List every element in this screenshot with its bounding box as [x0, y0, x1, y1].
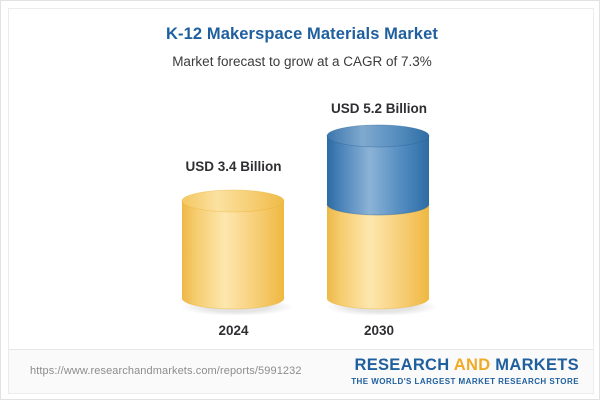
cylinder-2030[interactable] — [320, 122, 438, 315]
footer-bar: https://www.researchandmarkets.com/repor… — [9, 349, 594, 393]
plot-area: USD 3.4 Billion — [9, 9, 594, 349]
logo-tagline: THE WORLD'S LARGEST MARKET RESEARCH STOR… — [351, 376, 579, 387]
research-and-markets-logo[interactable]: RESEARCH AND MARKETS THE WORLD'S LARGEST… — [351, 356, 579, 387]
bar-group-2024: USD 3.4 Billion — [175, 9, 292, 349]
bar-group-2030: USD 5.2 Billion — [320, 9, 438, 349]
report-url[interactable]: https://www.researchandmarkets.com/repor… — [30, 365, 302, 377]
chart-infographic: K-12 Makerspace Materials Market Market … — [0, 0, 600, 400]
logo-word-markets: MARKETS — [490, 356, 579, 374]
logo-word-and: AND — [454, 356, 491, 374]
category-label-2030: 2030 — [320, 323, 438, 338]
logo-wordmark: RESEARCH AND MARKETS — [351, 356, 579, 375]
cylinder-2024[interactable] — [175, 187, 292, 315]
cylinder-2024-svg — [175, 187, 292, 315]
cylinder-2030-svg — [320, 122, 438, 315]
logo-word-research: RESEARCH — [354, 356, 453, 374]
value-label-2030: USD 5.2 Billion — [320, 101, 438, 116]
category-label-2024: 2024 — [175, 323, 292, 338]
value-label-2024: USD 3.4 Billion — [175, 159, 292, 174]
chart-canvas: K-12 Makerspace Materials Market Market … — [8, 8, 594, 394]
